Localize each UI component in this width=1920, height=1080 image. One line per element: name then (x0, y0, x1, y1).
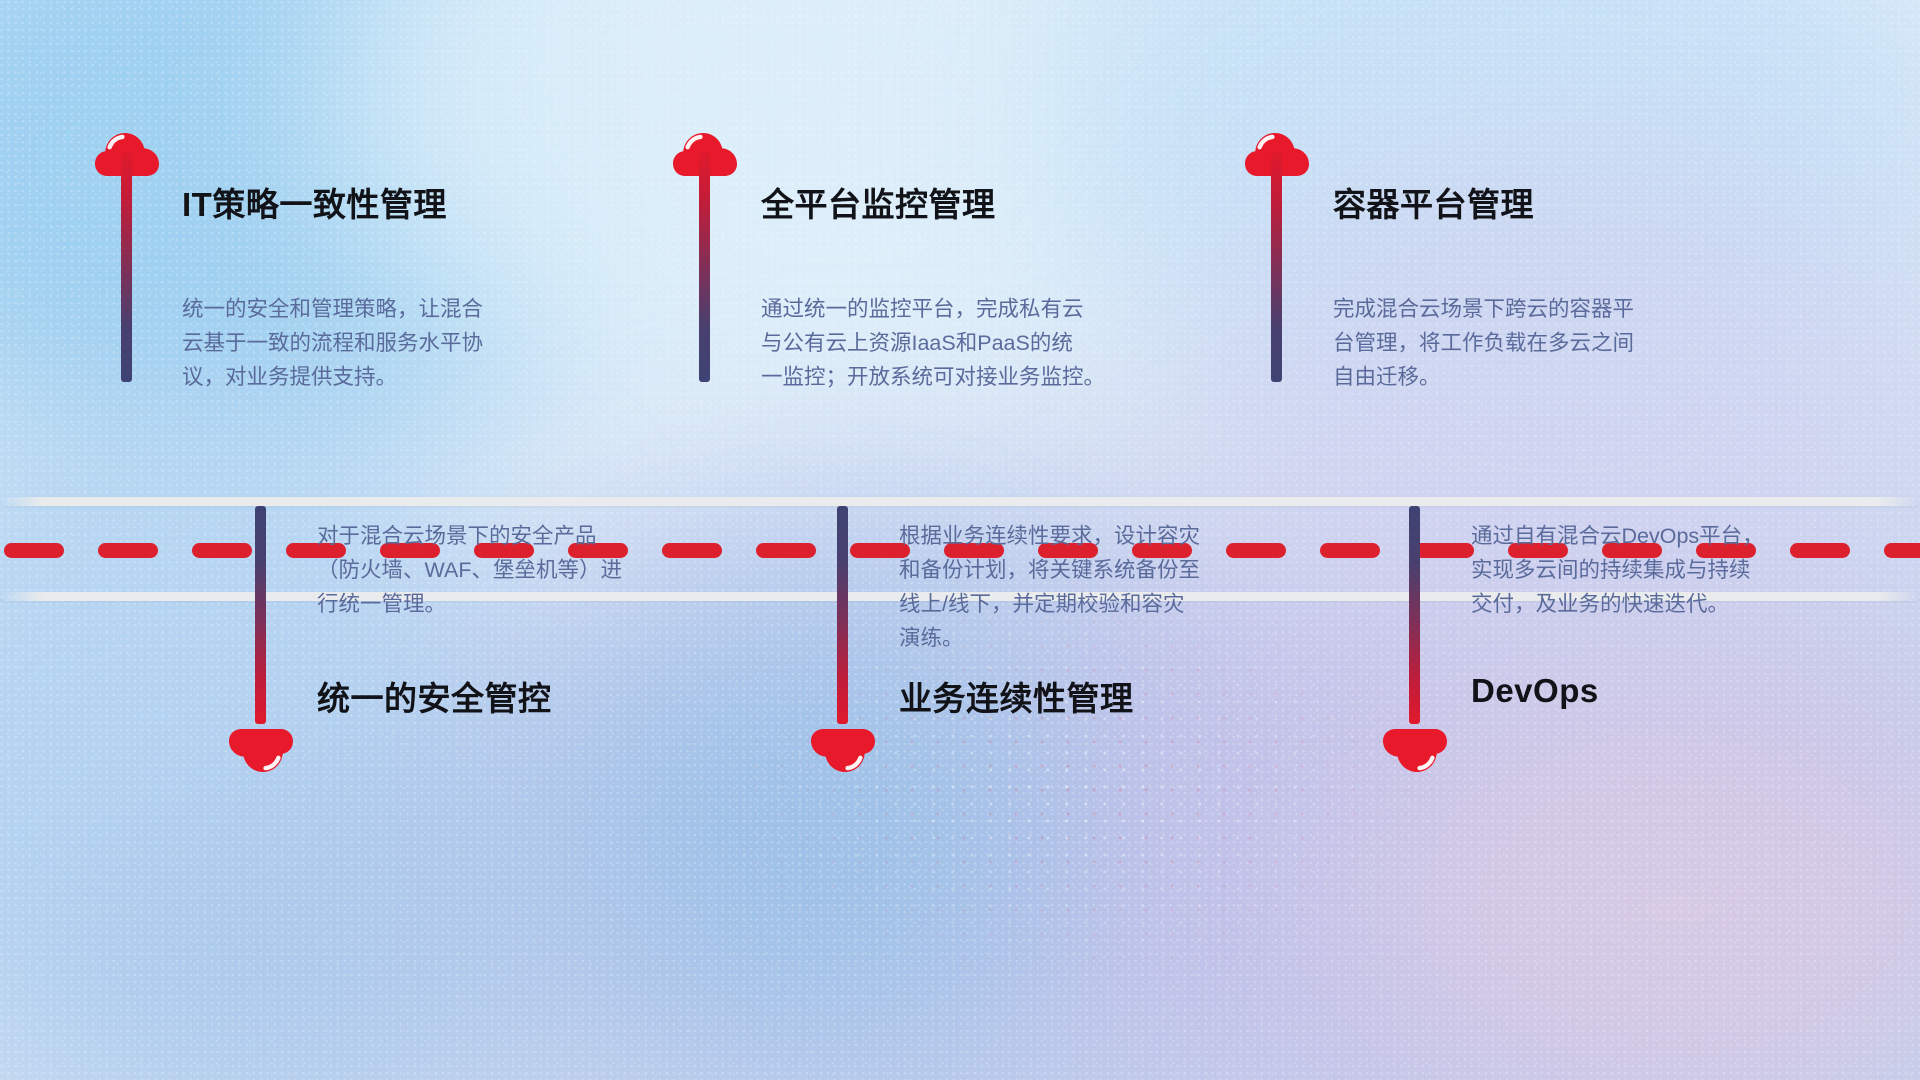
cloud-icon (229, 728, 293, 774)
body-line: 与公有云上资源IaaS和PaaS的统 (761, 326, 1191, 360)
road-dash (1414, 543, 1474, 558)
timeline-stem (121, 152, 132, 382)
section-body: 对于混合云场景下的安全产品 （防火墙、WAF、堡垒机等）进 行统一管理。 (317, 519, 737, 621)
timeline-stem (837, 506, 848, 724)
body-line: 交付，及业务的快速迭代。 (1471, 587, 1891, 621)
body-line: 线上/线下，并定期校验和容灾 (899, 587, 1319, 621)
body-line: 根据业务连续性要求，设计容灾 (899, 519, 1319, 553)
section-heading: 容器平台管理 (1333, 178, 1534, 226)
body-line: 和备份计划，将关键系统备份至 (899, 553, 1319, 587)
body-line: 统一的安全和管理策略，让混合 (182, 292, 602, 326)
section-body: 通过统一的监控平台，完成私有云 与公有云上资源IaaS和PaaS的统 一监控；开… (761, 292, 1191, 394)
section-body: 完成混合云场景下跨云的容器平 台管理，将工作负载在多云之间 自由迁移。 (1333, 292, 1753, 394)
body-line: 实现多云间的持续集成与持续 (1471, 553, 1891, 587)
section-heading: 全平台监控管理 (761, 178, 996, 226)
road-dash (756, 543, 816, 558)
body-line: 通过自有混合云DevOps平台， (1471, 519, 1891, 553)
road-dash (98, 543, 158, 558)
body-line: 完成混合云场景下跨云的容器平 (1333, 292, 1753, 326)
timeline-stem (699, 152, 710, 382)
body-line: （防火墙、WAF、堡垒机等）进 (317, 553, 737, 587)
body-line: 云基于一致的流程和服务水平协 (182, 326, 602, 360)
timeline-stem (255, 506, 266, 724)
section-body: 通过自有混合云DevOps平台， 实现多云间的持续集成与持续 交付，及业务的快速… (1471, 519, 1891, 621)
body-line: 自由迁移。 (1333, 360, 1753, 394)
section-heading: IT策略一致性管理 (182, 178, 447, 226)
road-dash (1320, 543, 1380, 558)
body-line: 对于混合云场景下的安全产品 (317, 519, 737, 553)
body-line: 议，对业务提供支持。 (182, 360, 602, 394)
road-dash (192, 543, 252, 558)
body-line: 一监控；开放系统可对接业务监控。 (761, 360, 1191, 394)
body-line: 台管理，将工作负载在多云之间 (1333, 326, 1753, 360)
body-line: 行统一管理。 (317, 587, 737, 621)
timeline-stem (1409, 506, 1420, 724)
section-body: 统一的安全和管理策略，让混合 云基于一致的流程和服务水平协 议，对业务提供支持。 (182, 292, 602, 394)
road-line-upper (0, 497, 1920, 506)
section-heading: 统一的安全管控 (317, 672, 552, 720)
cloud-icon (1383, 728, 1447, 774)
section-heading: 业务连续性管理 (899, 672, 1134, 720)
body-line: 演练。 (899, 621, 1319, 655)
road-dash (4, 543, 64, 558)
infographic-canvas: IT策略一致性管理 统一的安全和管理策略，让混合 云基于一致的流程和服务水平协 … (0, 0, 1920, 1080)
timeline-stem (1271, 152, 1282, 382)
section-body: 根据业务连续性要求，设计容灾 和备份计划，将关键系统备份至 线上/线下，并定期校… (899, 519, 1319, 655)
body-line: 通过统一的监控平台，完成私有云 (761, 292, 1191, 326)
section-heading: DevOps (1471, 672, 1599, 710)
cloud-icon (811, 728, 875, 774)
